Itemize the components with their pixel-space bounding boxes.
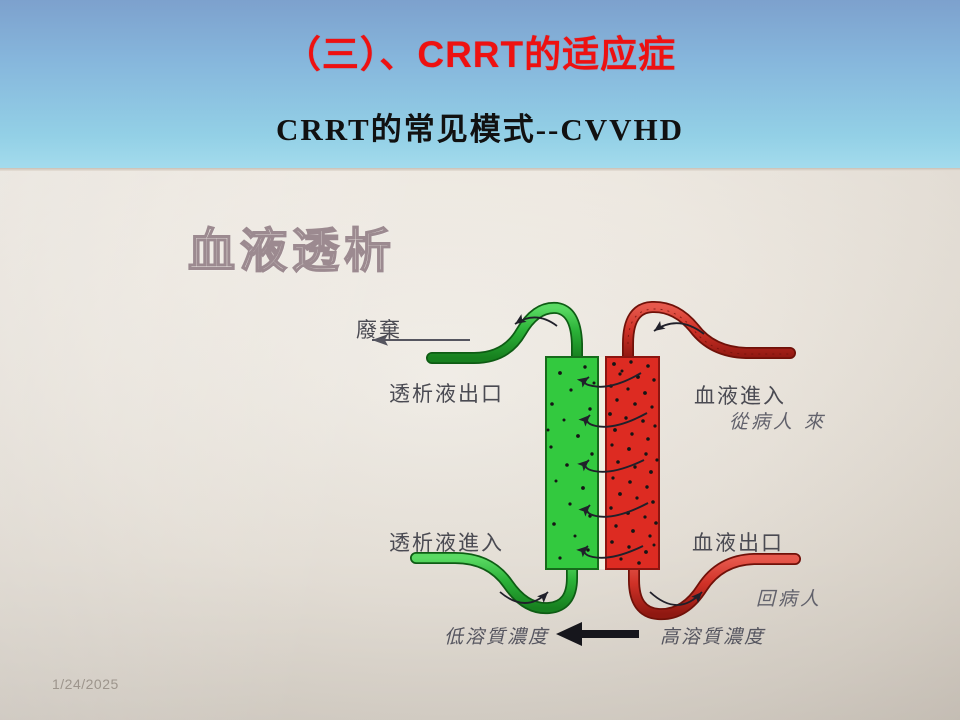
- slide-subtitle: CRRT的常见模式--CVVHD: [0, 104, 960, 149]
- label-blood-outlet: 血液出口: [692, 527, 784, 557]
- label-to-patient: 回病人: [756, 584, 822, 611]
- label-dialysate-inlet: 透析液進入: [389, 527, 504, 557]
- slide-title: （三）、CRRT的适应症: [0, 24, 960, 78]
- dialysate-chamber: [546, 357, 598, 569]
- label-blood-inlet: 血液進入: [694, 380, 786, 410]
- diagram-heading: 血液透析: [188, 212, 396, 281]
- presentation-slide: （三）、CRRT的适应症 CRRT的常见模式--CVVHD: [0, 0, 960, 720]
- label-dialysate-outlet: 透析液出口: [389, 378, 504, 408]
- blood-chamber: [606, 357, 659, 569]
- dialysate-outlet-tube: [432, 308, 577, 358]
- label-from-patient: 從病人 來: [729, 407, 826, 434]
- date-stamp: 1/24/2025: [52, 676, 119, 692]
- label-high-concentration: 高溶質濃度: [660, 622, 765, 649]
- label-waste: 廢棄: [356, 314, 402, 344]
- blood-inlet-tube: [628, 307, 790, 358]
- concentration-gradient-arrow: [556, 622, 639, 646]
- label-low-concentration: 低溶質濃度: [444, 622, 549, 649]
